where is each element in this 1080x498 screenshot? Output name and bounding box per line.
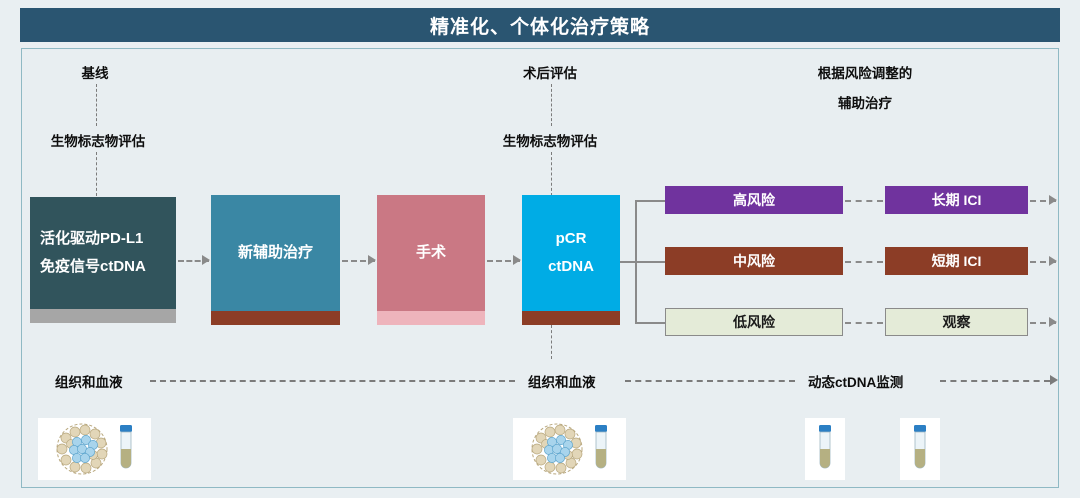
baseline-box-footer-bar [30,309,176,323]
label-postop-biomarker: 生物标志物评估 [470,130,630,150]
label-tissue-blood-baseline: 组织和血液 [55,371,123,391]
link-low-risk-to-treatment [845,322,883,324]
track-dash-1 [150,380,515,382]
surgery-box-footer-bar [377,311,485,325]
tumor-cell-cluster-icon [528,422,586,476]
dashed-connector-baseline-bottom [96,152,97,196]
diagram-page: 精准化、个体化治疗策略 基线 生物标志物评估 术后评估 生物标志物评估 根据风险… [0,0,1080,498]
blood-tube-icon [590,423,612,475]
pcr-box-line2: ctDNA [548,253,594,282]
surgery-box[interactable]: 手术 [377,195,485,325]
track-arrow-head-icon [1050,375,1058,385]
diagram-title-bar: 精准化、个体化治疗策略 [20,8,1060,42]
baseline-box[interactable]: 活化驱动PD-L1 免疫信号ctDNA [30,197,176,323]
label-baseline-biomarker: 生物标志物评估 [18,130,178,150]
specimen-card-monitoring-1 [805,418,845,480]
bracket-stem [620,261,636,263]
baseline-box-line2: 免疫信号ctDNA [40,253,146,282]
arrow-head-icon [368,255,376,265]
arrow-head-icon [1049,195,1057,205]
dashed-connector-pcr-to-track [551,325,552,359]
neoadjuvant-box-body: 新辅助治疗 [211,195,340,311]
pcr-ctdna-box-body: pCR ctDNA [522,195,620,311]
treatment-box-short-ici[interactable]: 短期 ICI [885,247,1028,275]
label-dynamic-ctdna-monitoring: 动态ctDNA监测 [808,371,903,391]
surgery-box-label: 手术 [416,239,446,268]
baseline-box-body: 活化驱动PD-L1 免疫信号ctDNA [30,197,176,309]
blood-tube-icon [909,423,931,475]
label-tissue-blood-postop: 组织和血液 [528,371,596,391]
neoadjuvant-box-label: 新辅助治疗 [238,239,313,268]
surgery-box-body: 手术 [377,195,485,311]
dashed-connector-baseline-top [96,84,97,126]
pcr-ctdna-box[interactable]: pCR ctDNA [522,195,620,325]
pcr-ctdna-box-footer-bar [522,311,620,325]
label-risk-adapted-line2: 辅助治疗 [770,92,960,112]
pcr-box-line1: pCR [556,225,587,254]
risk-box-high[interactable]: 高风险 [665,186,843,214]
dashed-connector-postop-bottom [551,152,552,196]
specimen-card-baseline [38,418,151,480]
label-postop: 术后评估 [495,62,605,82]
arrow-head-icon [1049,256,1057,266]
blood-tube-icon [814,423,836,475]
risk-box-medium[interactable]: 中风险 [665,247,843,275]
treatment-box-long-ici[interactable]: 长期 ICI [885,186,1028,214]
link-high-risk-to-treatment [845,200,883,202]
baseline-box-line1: 活化驱动PD-L1 [40,225,143,254]
tumor-cell-cluster-icon [53,422,111,476]
treatment-box-observation[interactable]: 观察 [885,308,1028,336]
arrow-head-icon [513,255,521,265]
specimen-card-monitoring-2 [900,418,940,480]
dashed-connector-postop-top [551,84,552,126]
track-dash-2 [625,380,795,382]
arrow-head-icon [1049,317,1057,327]
label-risk-adapted-line1: 根据风险调整的 [770,62,960,82]
arrow-head-icon [202,255,210,265]
link-medium-risk-to-treatment [845,261,883,263]
risk-box-low[interactable]: 低风险 [665,308,843,336]
blood-tube-icon [115,423,137,475]
neoadjuvant-box-footer-bar [211,311,340,325]
label-baseline: 基线 [60,62,130,82]
page-title: 精准化、个体化治疗策略 [430,12,650,39]
neoadjuvant-box[interactable]: 新辅助治疗 [211,195,340,325]
track-dash-3 [940,380,1050,382]
specimen-card-postop [513,418,626,480]
